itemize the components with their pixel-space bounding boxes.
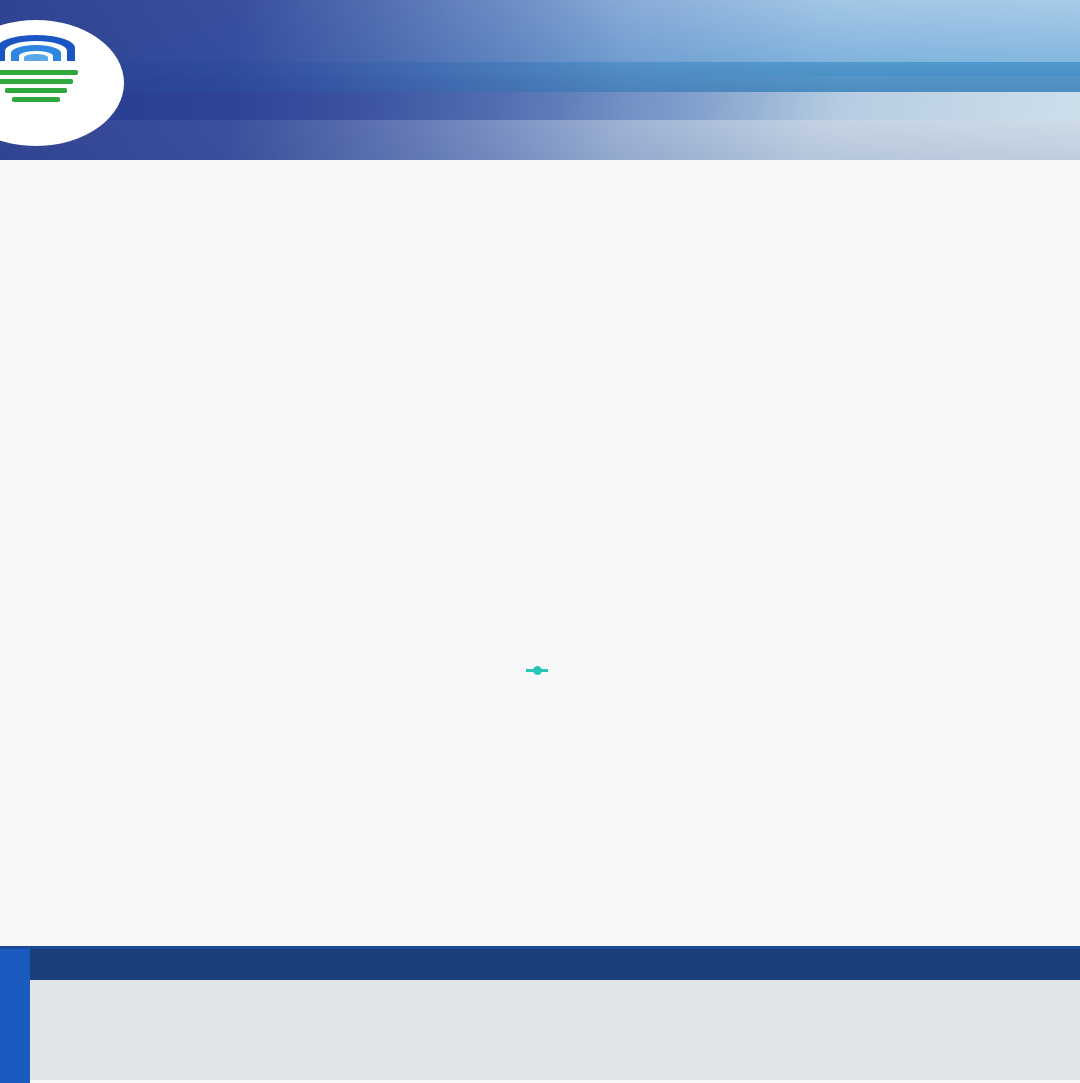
chart-legend <box>0 662 1080 677</box>
header-overlay-tint <box>0 0 1080 160</box>
legend-sidebar <box>0 949 30 1083</box>
logo-waves <box>0 70 78 112</box>
legend-note-strip <box>30 949 1080 980</box>
logo-arcs <box>0 33 78 69</box>
page-header <box>0 0 1080 160</box>
validity-line <box>0 185 1080 204</box>
legend-section <box>0 946 1080 1080</box>
chart-legend-marker <box>526 669 548 672</box>
title-section <box>0 160 1080 204</box>
